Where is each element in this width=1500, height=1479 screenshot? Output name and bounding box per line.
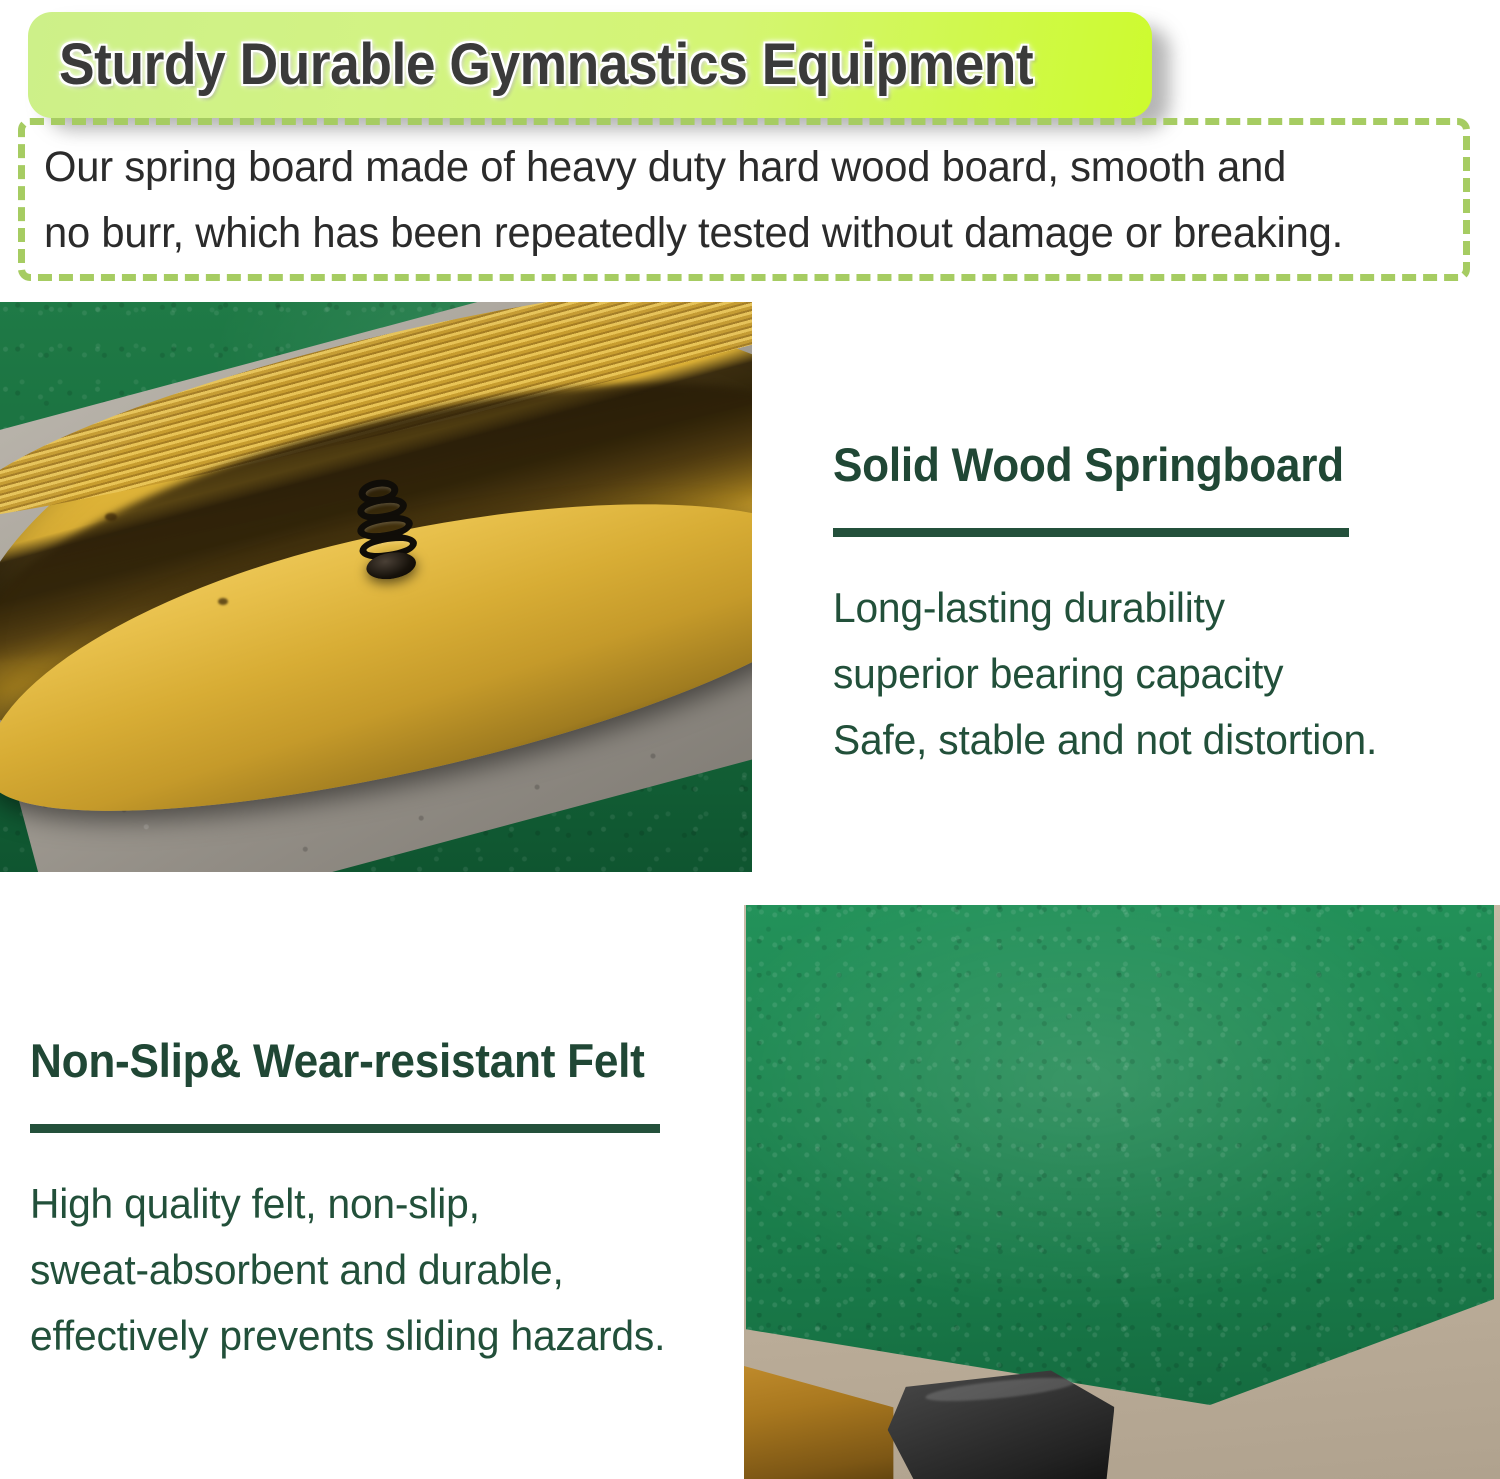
intro-paragraph: Our spring board made of heavy duty hard…: [44, 134, 1412, 266]
green-felt-surface: [746, 905, 1494, 1410]
feature-body-text: Long-lasting durability superior bearing…: [833, 575, 1434, 773]
feature-heading: Non-Slip& Wear-resistant Felt: [30, 1036, 650, 1086]
feature-heading: Solid Wood Springboard: [833, 440, 1416, 490]
feature-block-solid-wood-springboard: Solid Wood Springboard Long-lasting dura…: [833, 440, 1453, 773]
feature-divider: [30, 1124, 660, 1133]
springboard-underside-photo: [0, 302, 752, 872]
banner-pill: Sturdy Durable Gymnastics Equipment: [28, 12, 1152, 118]
green-felt-corner-photo: [744, 905, 1500, 1479]
feature-body-text: High quality felt, non-slip, sweat-absor…: [30, 1171, 670, 1369]
header-banner: Sturdy Durable Gymnastics Equipment: [28, 12, 1152, 120]
product-infographic: Sturdy Durable Gymnastics Equipment Our …: [0, 0, 1500, 1479]
page-title: Sturdy Durable Gymnastics Equipment: [59, 36, 1033, 94]
feature-block-non-slip-felt: Non-Slip& Wear-resistant Felt High quali…: [30, 1036, 690, 1369]
feature-divider: [833, 528, 1349, 537]
